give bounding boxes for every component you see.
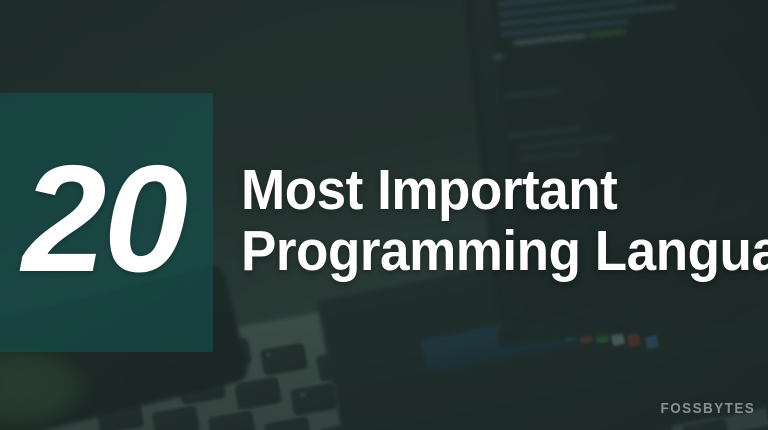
page-title-line-1: Most Important (241, 160, 725, 221)
page-title-line-2: Programming Languages (241, 221, 725, 282)
article-banner: QW34A2EShiftCtrl 20 Most Important Progr… (0, 0, 768, 430)
page-title: Most Important Programming Languages (241, 160, 725, 282)
site-watermark: FOSSBYTES (660, 400, 755, 417)
list-count-numeral: 20 (22, 143, 185, 295)
